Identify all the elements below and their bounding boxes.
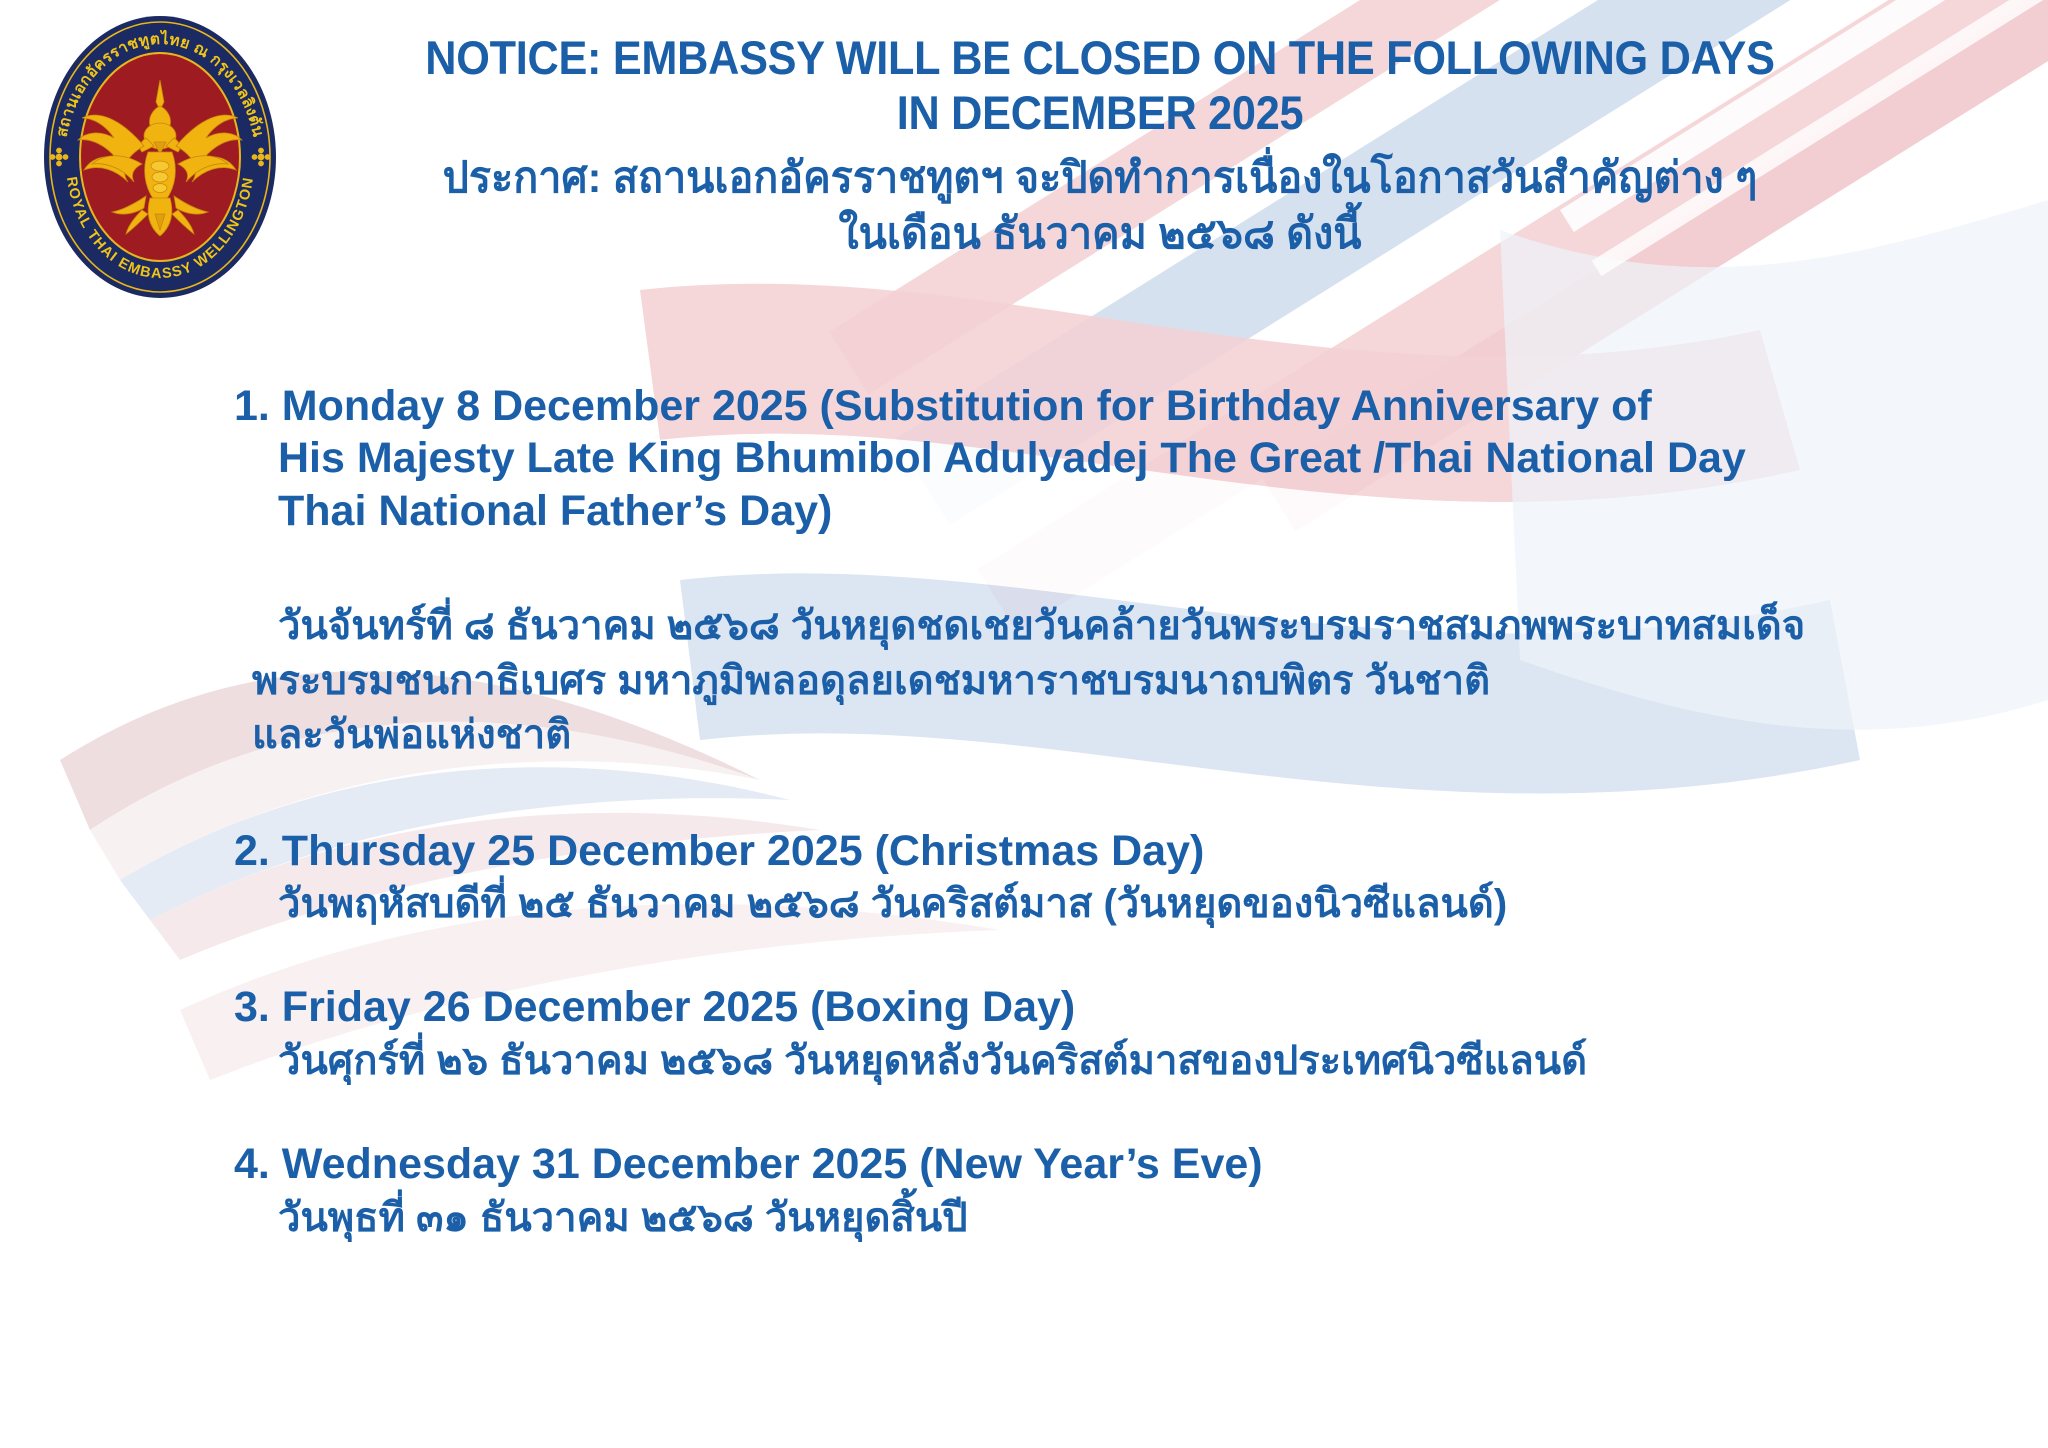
item-1-th-line-1: วันจันทร์ที่ ๘ ธันวาคม ๒๕๖๘ วันหยุดชดเชย…	[234, 599, 1934, 653]
item-1-en-line-1: 1. Monday 8 December 2025 (Substitution …	[234, 380, 1934, 432]
item-2-th-line-1: วันพฤหัสบดีที่ ๒๕ ธันวาคม ๒๕๖๘ วันคริสต์…	[234, 877, 1934, 931]
item-1-th-line-2: พระบรมชนกาธิเบศร มหาภูมิพลอดุลยเดชมหาราช…	[234, 654, 1934, 708]
item-1-en-line-2: His Majesty Late King Bhumibol Adulyadej…	[234, 432, 1934, 484]
closure-item-1: 1. Monday 8 December 2025 (Substitution …	[234, 380, 1934, 763]
spacer	[234, 537, 1934, 599]
closure-item-2: 2. Thursday 25 December 2025 (Christmas …	[234, 825, 1934, 932]
item-4-th-line-1: วันพุธที่ ๓๑ ธันวาคม ๒๕๖๘ วันหยุดสิ้นปี	[234, 1191, 1934, 1245]
item-3-en-line-1: 3. Friday 26 December 2025 (Boxing Day)	[234, 981, 1934, 1033]
spacer	[234, 1088, 1934, 1138]
item-3-th-line-1: วันศุกร์ที่ ๒๖ ธันวาคม ๒๕๖๘ วันหยุดหลังว…	[234, 1034, 1934, 1088]
closure-item-4: 4. Wednesday 31 December 2025 (New Year’…	[234, 1138, 1934, 1245]
item-4-en-line-1: 4. Wednesday 31 December 2025 (New Year’…	[234, 1138, 1934, 1190]
headline-line-1: NOTICE: EMBASSY WILL BE CLOSED ON THE FO…	[364, 30, 1836, 85]
headline-thai-line-2: ในเดือน ธันวาคม ๒๕๖๘ ดังนี้	[332, 207, 1868, 263]
spacer	[234, 763, 1934, 825]
item-2-en-line-1: 2. Thursday 25 December 2025 (Christmas …	[234, 825, 1934, 877]
notice-poster: สถานเอกอัครราชทูตไทย ณ กรุงเวลลิงตัน ROY…	[0, 0, 2048, 1448]
royal-thai-embassy-seal: สถานเอกอัครราชทูตไทย ณ กรุงเวลลิงตัน ROY…	[42, 14, 278, 300]
closure-item-3: 3. Friday 26 December 2025 (Boxing Day) …	[234, 981, 1934, 1088]
item-1-th-line-3: และวันพ่อแห่งชาติ	[234, 708, 1934, 762]
closure-days-list: 1. Monday 8 December 2025 (Substitution …	[234, 380, 1934, 1245]
spacer	[234, 931, 1934, 981]
headline-thai-line-1: ประกาศ: สถานเอกอัครราชทูตฯ จะปิดทำการเนื…	[332, 151, 1868, 207]
item-1-en-line-3: Thai National Father’s Day)	[234, 485, 1934, 537]
notice-header: NOTICE: EMBASSY WILL BE CLOSED ON THE FO…	[300, 30, 1900, 263]
headline-line-2: IN DECEMBER 2025	[364, 85, 1836, 140]
